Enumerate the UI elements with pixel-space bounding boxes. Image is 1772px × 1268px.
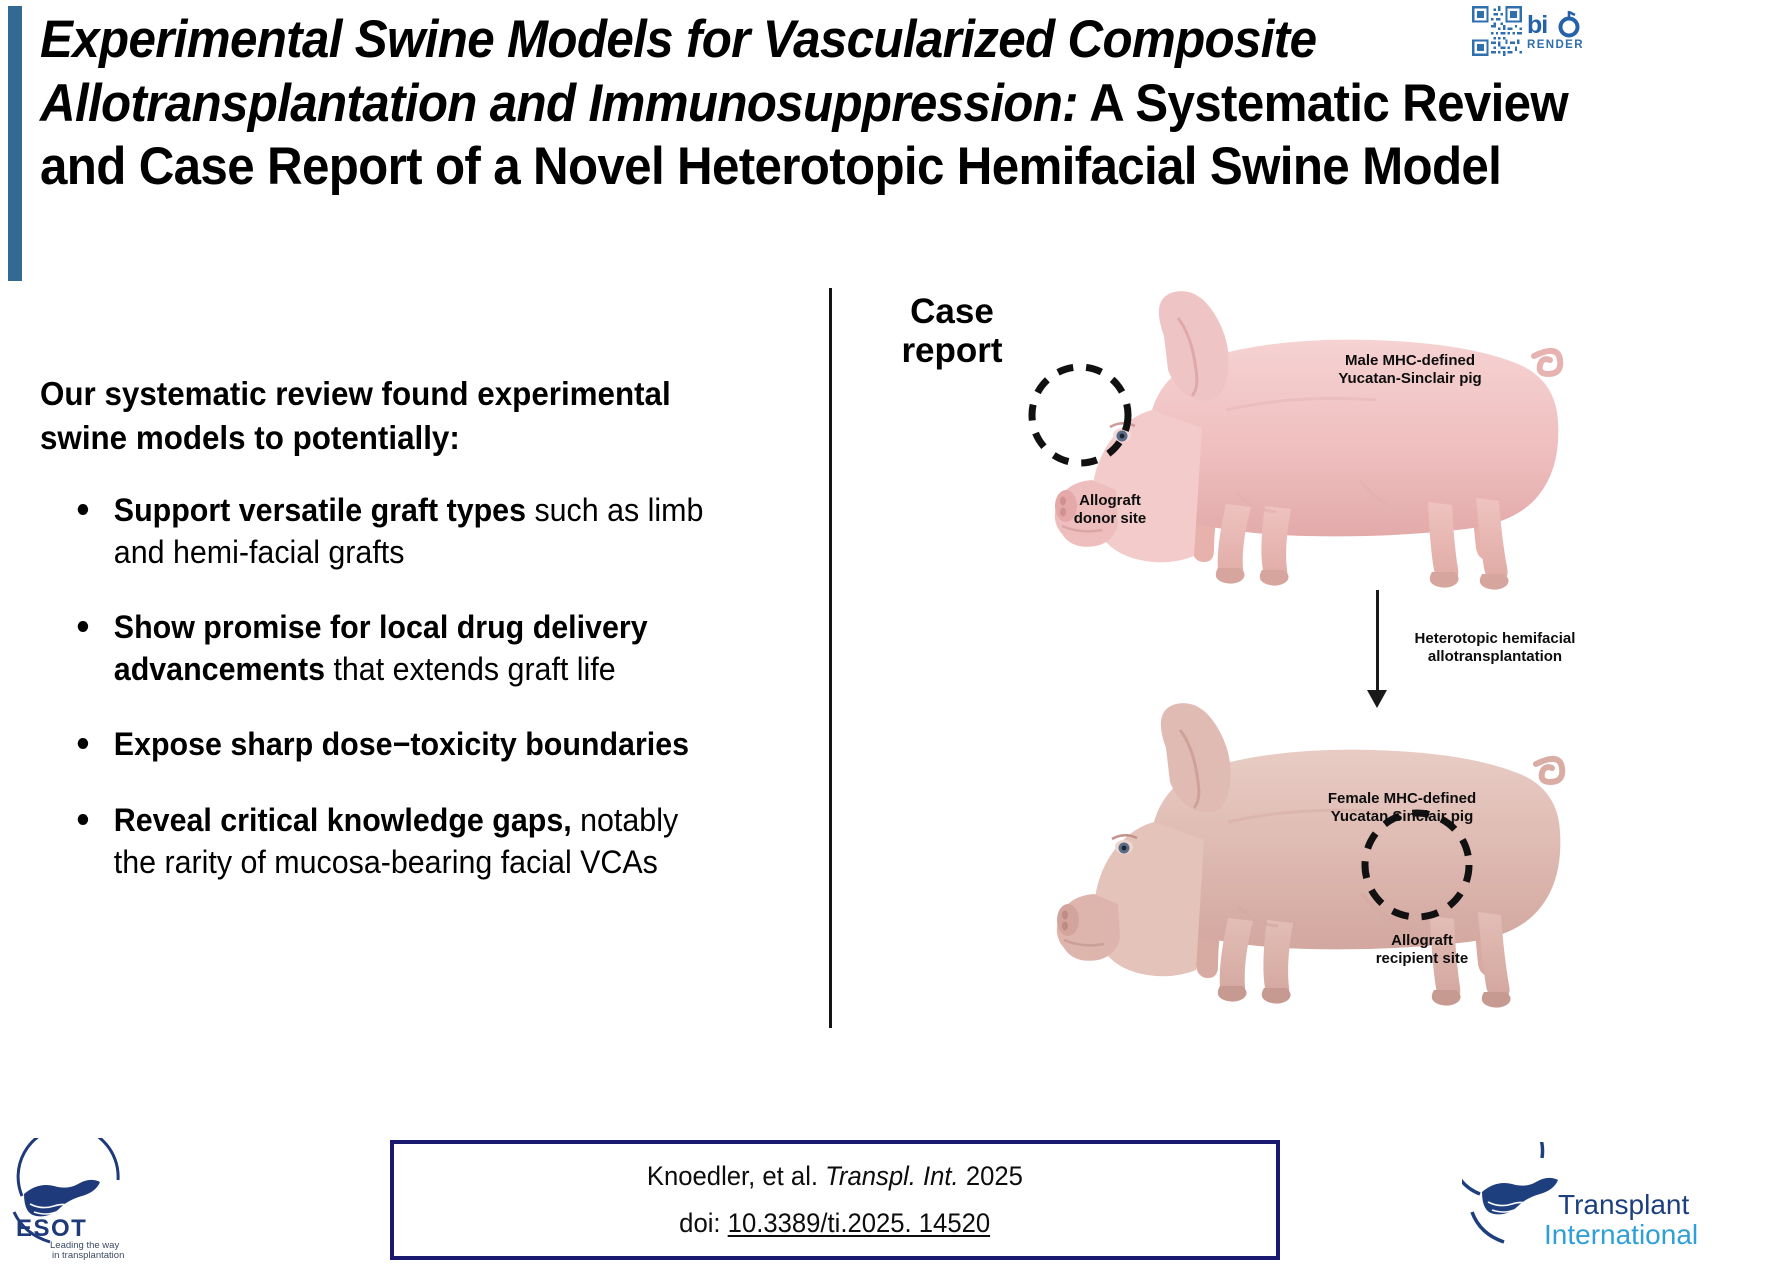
biorender-render-label: RENDER — [1527, 40, 1584, 52]
list-item-bold: Reveal critical knowledge gaps, — [114, 802, 572, 838]
citation-journal: Transpl. Int. — [825, 1161, 959, 1191]
citation-doi-value[interactable]: 10.3389/ti.2025. 14520 — [728, 1208, 990, 1238]
svg-text:bi: bi — [1527, 11, 1547, 39]
transplant-arrow-head-icon — [1367, 690, 1387, 708]
graphical-abstract-poster: Experimental Swine Models for Vasculariz… — [0, 0, 1772, 1268]
biorender-logo: bi RENDER — [1472, 4, 1592, 58]
bullet-dot-icon — [78, 621, 88, 632]
list-item: Reveal critical knowledge gaps, notably … — [72, 800, 728, 883]
list-item-bold: Support versatile graft types — [114, 492, 526, 528]
findings-list: Support versatile graft types such as li… — [72, 490, 728, 917]
donor-pig-label: Male MHC-defined Yucatan-Sinclair pig — [1300, 352, 1520, 389]
page-title: Experimental Swine Models for Vasculariz… — [40, 8, 1602, 199]
citation-reference: Knoedler, et al. Transpl. Int. 2025 — [647, 1161, 1023, 1192]
bullet-dot-icon — [78, 504, 88, 515]
esot-logo-wordmark: ESOT — [16, 1215, 87, 1242]
citation-year: 2025 — [959, 1161, 1023, 1191]
list-item: Support versatile graft types such as li… — [72, 490, 728, 573]
citation-doi-prefix: doi: — [680, 1208, 728, 1238]
allograft-recipient-site-label: Allograft recipient site — [1332, 932, 1512, 969]
list-item-rest: that extends graft life — [325, 651, 616, 687]
allograft-donor-site-marker — [1020, 355, 1140, 475]
lead-statement: Our systematic review found experimental… — [40, 372, 705, 460]
recipient-pig-label: Female MHC-defined Yucatan Sinclair pig — [1292, 790, 1512, 827]
transplant-international-logo: Transplant International — [1462, 1142, 1712, 1254]
bullet-dot-icon — [78, 814, 88, 825]
citation-doi: doi: 10.3389/ti.2025. 14520 — [680, 1208, 991, 1239]
transplant-international-line2: International — [1544, 1219, 1698, 1250]
list-item-bold: Expose sharp dose−toxicity boundaries — [114, 726, 689, 762]
transplant-process-label: Heterotopic hemifacial allotransplantati… — [1390, 630, 1600, 667]
column-divider — [829, 288, 832, 1028]
bullet-dot-icon — [78, 738, 88, 749]
transplant-international-line1: Transplant — [1558, 1189, 1689, 1220]
recipient-pig-illustration — [1000, 700, 1620, 1030]
list-item: Expose sharp dose−toxicity boundaries — [72, 724, 728, 766]
list-item: Show promise for local drug delivery adv… — [72, 607, 728, 690]
allograft-donor-site-label: Allograft donor site — [1030, 492, 1190, 529]
title-accent-bar — [8, 6, 22, 281]
citation-authors: Knoedler, et al. — [647, 1161, 825, 1191]
citation-box: Knoedler, et al. Transpl. Int. 2025 doi:… — [390, 1140, 1280, 1260]
biorender-wordmark-icon: bi — [1527, 11, 1583, 39]
esot-logo: ESOT Leading the way in transplantation — [8, 1138, 173, 1260]
esot-logo-tagline-2: in transplantation — [52, 1250, 124, 1260]
qr-code-icon — [1472, 6, 1522, 56]
transplant-arrow-shaft — [1376, 590, 1379, 696]
